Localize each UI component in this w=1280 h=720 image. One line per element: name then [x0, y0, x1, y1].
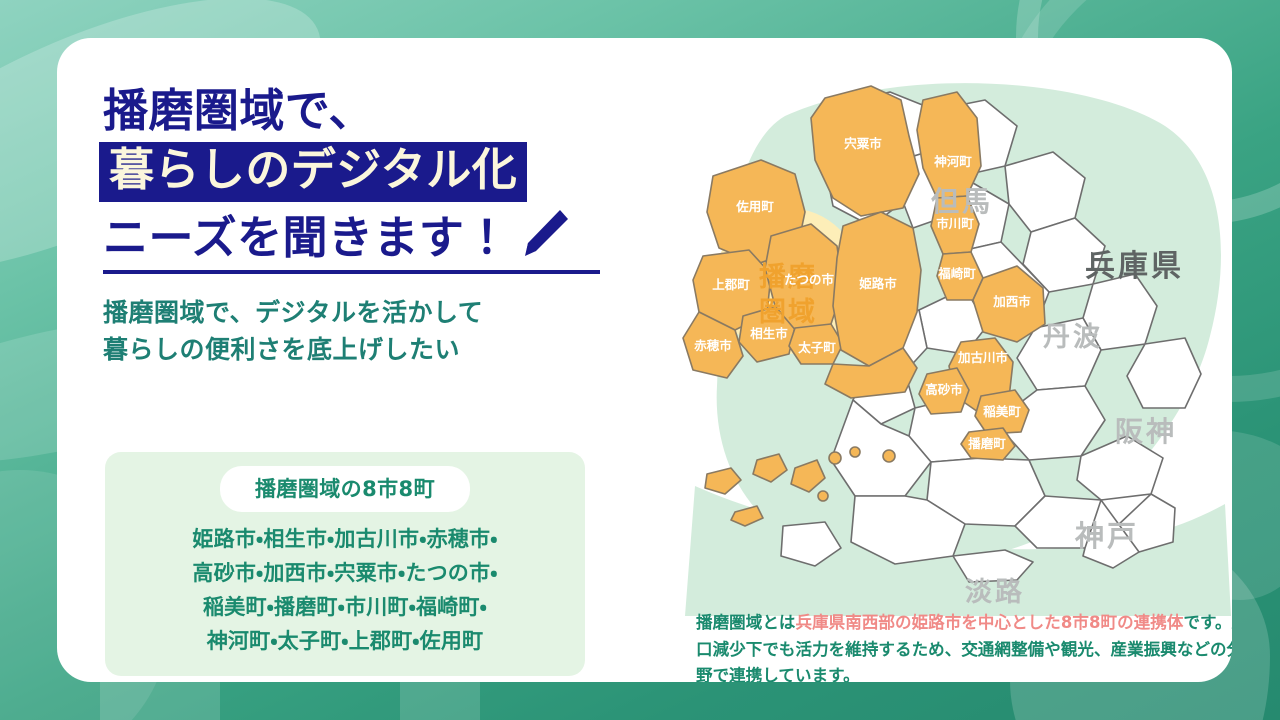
map-label-hyogo: 兵庫県 — [1085, 249, 1184, 284]
headline-underline — [103, 270, 600, 274]
subtitle-line-1: 播磨圏域で、デジタルを活かして — [103, 294, 663, 332]
hyogo-map-svg: 但馬 丹波 阪神 神戸 淡路 兵庫県 播磨 圏域 宍粟市 神河町 — [665, 56, 1232, 616]
slide-root: 播磨圏域で、 暮らしのデジタル化 ニーズを聞きます！ 播磨圏域で、デジタルを活か… — [0, 0, 1280, 720]
map-label-himeji: 姫路市 — [859, 276, 897, 291]
headline-line-1: 播磨圏域で、 — [103, 86, 663, 136]
pen-icon — [516, 206, 570, 266]
map-label-harima-town: 播磨町 — [968, 436, 1006, 451]
region-box-list-line: 姫路市・相生市・加古川市・赤穂市・ — [105, 522, 585, 556]
map-label-fukusaki: 福崎町 — [937, 266, 976, 281]
map-label-ako: 赤穂市 — [693, 338, 732, 353]
map-label-kamigori: 上郡町 — [712, 277, 750, 292]
region-box-list: 姫路市・相生市・加古川市・赤穂市・ 高砂市・加西市・宍粟市・たつの市・ 稲美町・… — [105, 522, 585, 658]
map-label-taishi: 太子町 — [797, 340, 836, 355]
map-note-highlight: 兵庫県南西部の姫路市を中心とした8市8町の連携体 — [796, 613, 1184, 632]
headline-line-3: ニーズを聞きます！ — [103, 213, 510, 263]
map-island — [883, 450, 895, 462]
map-label-hanshin: 阪神 — [1115, 415, 1177, 448]
map-badge-line-2: 圏域 — [759, 297, 817, 328]
map-label-kakogawa: 加古川市 — [957, 350, 1009, 365]
map-label-tanba: 丹波 — [1043, 322, 1103, 353]
region-box: 播磨圏域の8市8町 姫路市・相生市・加古川市・赤穂市・ 高砂市・加西市・宍粟市・… — [105, 452, 585, 676]
map-prefecture-label-group: 兵庫県 — [1085, 249, 1184, 284]
map-label-awaji: 淡路 — [965, 576, 1025, 608]
map-label-takasago: 高砂市 — [925, 382, 963, 397]
map-note-seg-1: 播磨圏域とは — [696, 613, 796, 632]
map-label-ichikawa: 市川町 — [936, 216, 974, 231]
map-label-kasai: 加西市 — [992, 294, 1031, 309]
headline-block: 播磨圏域で、 暮らしのデジタル化 ニーズを聞きます！ 播磨圏域で、デジタルを活か… — [103, 86, 663, 369]
headline-line-3-row: ニーズを聞きます！ — [103, 206, 663, 264]
map-label-aioi: 相生市 — [750, 326, 788, 341]
content-card: 播磨圏域で、 暮らしのデジタル化 ニーズを聞きます！ 播磨圏域で、デジタルを活か… — [57, 38, 1232, 682]
map-label-shiso: 宍粟市 — [844, 136, 882, 151]
map-island — [829, 452, 841, 464]
subtitle-line-2: 暮らしの便利さを底上げしたい — [103, 331, 663, 369]
map-label-tajima: 但馬 — [931, 185, 993, 218]
map-island — [850, 447, 860, 457]
map-label-sayo: 佐用町 — [735, 199, 774, 214]
map-label-kamikawa: 神河町 — [933, 154, 972, 169]
map-island — [818, 491, 828, 501]
map-label-inami: 稲美町 — [983, 404, 1021, 419]
map-label-tatsuno: たつの市 — [784, 272, 835, 287]
map-label-kobe: 神戸 — [1074, 519, 1139, 553]
region-box-title: 播磨圏域の8市8町 — [220, 466, 470, 512]
map-note: 播磨圏域とは兵庫県南西部の姫路市を中心とした8市8町の連携体です。人口減少下でも… — [696, 610, 1232, 682]
headline-line-2-highlight: 暮らしのデジタル化 — [99, 142, 527, 201]
subtitle: 播磨圏域で、デジタルを活かして 暮らしの便利さを底上げしたい — [103, 294, 663, 369]
region-box-list-line: 高砂市・加西市・宍粟市・たつの市・ — [105, 556, 585, 590]
map-illustration: 但馬 丹波 阪神 神戸 淡路 兵庫県 播磨 圏域 宍粟市 神河町 — [665, 56, 1232, 616]
region-box-list-line: 神河町・太子町・上郡町・佐用町 — [105, 624, 585, 658]
region-box-list-line: 稲美町・播磨町・市川町・福崎町・ — [105, 590, 585, 624]
